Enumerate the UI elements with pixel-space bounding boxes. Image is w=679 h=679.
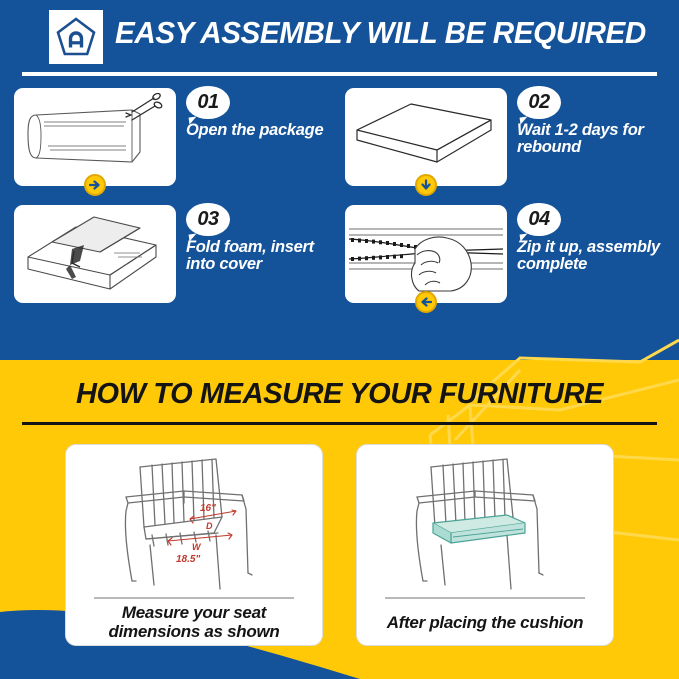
step-number: 04 (528, 208, 549, 231)
foam-folded-into-cover-illustration-icon (14, 205, 176, 303)
step-illustration-card (345, 88, 507, 186)
step-number-badge: 01 (186, 86, 230, 119)
assembly-steps: 01 Open the package (0, 86, 679, 311)
dimension-width-value: 18.5" (176, 554, 200, 565)
dimension-depth-value: 16" (200, 503, 216, 514)
measure-card-dimensions: 16" D W 18.5" Measure your seat dimensio… (65, 444, 323, 646)
dimension-depth-axis: D (206, 521, 213, 531)
patio-chair-with-cushion-illustration-icon (357, 449, 613, 594)
step-arrow-right-badge (84, 174, 106, 196)
step-number-badge: 03 (186, 203, 230, 236)
step-text-block: 02 Wait 1-2 days for rebound (517, 86, 677, 156)
hand-closing-zipper-illustration-icon (345, 205, 507, 303)
step-label: Wait 1-2 days for rebound (517, 122, 677, 156)
measure-section-title: HOW TO MEASURE YOUR FURNITURE (0, 378, 679, 411)
step-item-02: 02 Wait 1-2 days for rebound (345, 86, 675, 194)
card-caption: Measure your seat dimensions as shown (74, 603, 314, 641)
step-number: 03 (197, 208, 218, 231)
card-caption: After placing the cushion (365, 613, 605, 632)
measure-card-cushion: After placing the cushion (356, 444, 614, 646)
step-number: 01 (197, 91, 218, 114)
step-item-03: 03 Fold foam, insert into cover (14, 203, 344, 311)
caption-divider (94, 597, 294, 599)
step-number: 02 (528, 91, 549, 114)
measure-section-divider (22, 422, 657, 425)
brand-logo (49, 10, 103, 64)
foam-cushion-block-illustration-icon (345, 88, 507, 186)
step-label: Open the package (186, 122, 346, 139)
patio-chair-with-dimensions-illustration-icon: 16" D W 18.5" (66, 449, 322, 594)
step-text-block: 03 Fold foam, insert into cover (186, 203, 346, 273)
step-illustration-card (345, 205, 507, 303)
step-text-block: 01 Open the package (186, 86, 346, 139)
step-label: Zip it up, assembly complete (517, 239, 677, 273)
page-title: EASY ASSEMBLY WILL BE REQUIRED (115, 16, 646, 51)
step-label: Fold foam, insert into cover (186, 239, 346, 273)
vacuum-sealed-package-illustration-icon (14, 88, 176, 186)
step-item-01: 01 Open the package (14, 86, 344, 194)
step-item-04: 04 Zip it up, assembly complete (345, 203, 675, 311)
header-divider (22, 72, 657, 76)
assembly-section: EASY ASSEMBLY WILL BE REQUIRED (0, 0, 679, 360)
house-pentagon-logo-icon (55, 16, 97, 58)
step-number-badge: 04 (517, 203, 561, 236)
step-illustration-card (14, 88, 176, 186)
arrow-down-icon (420, 179, 432, 191)
dimension-width-axis: W (192, 542, 202, 552)
measure-section: HOW TO MEASURE YOUR FURNITURE (0, 310, 679, 679)
arrow-right-icon (89, 179, 101, 191)
infographic-poster: EASY ASSEMBLY WILL BE REQUIRED (0, 0, 679, 679)
arrow-left-icon (420, 296, 432, 308)
step-arrow-down-badge (415, 174, 437, 196)
caption-divider (385, 597, 585, 599)
step-illustration-card (14, 205, 176, 303)
step-text-block: 04 Zip it up, assembly complete (517, 203, 677, 273)
step-number-badge: 02 (517, 86, 561, 119)
header: EASY ASSEMBLY WILL BE REQUIRED (0, 0, 679, 80)
